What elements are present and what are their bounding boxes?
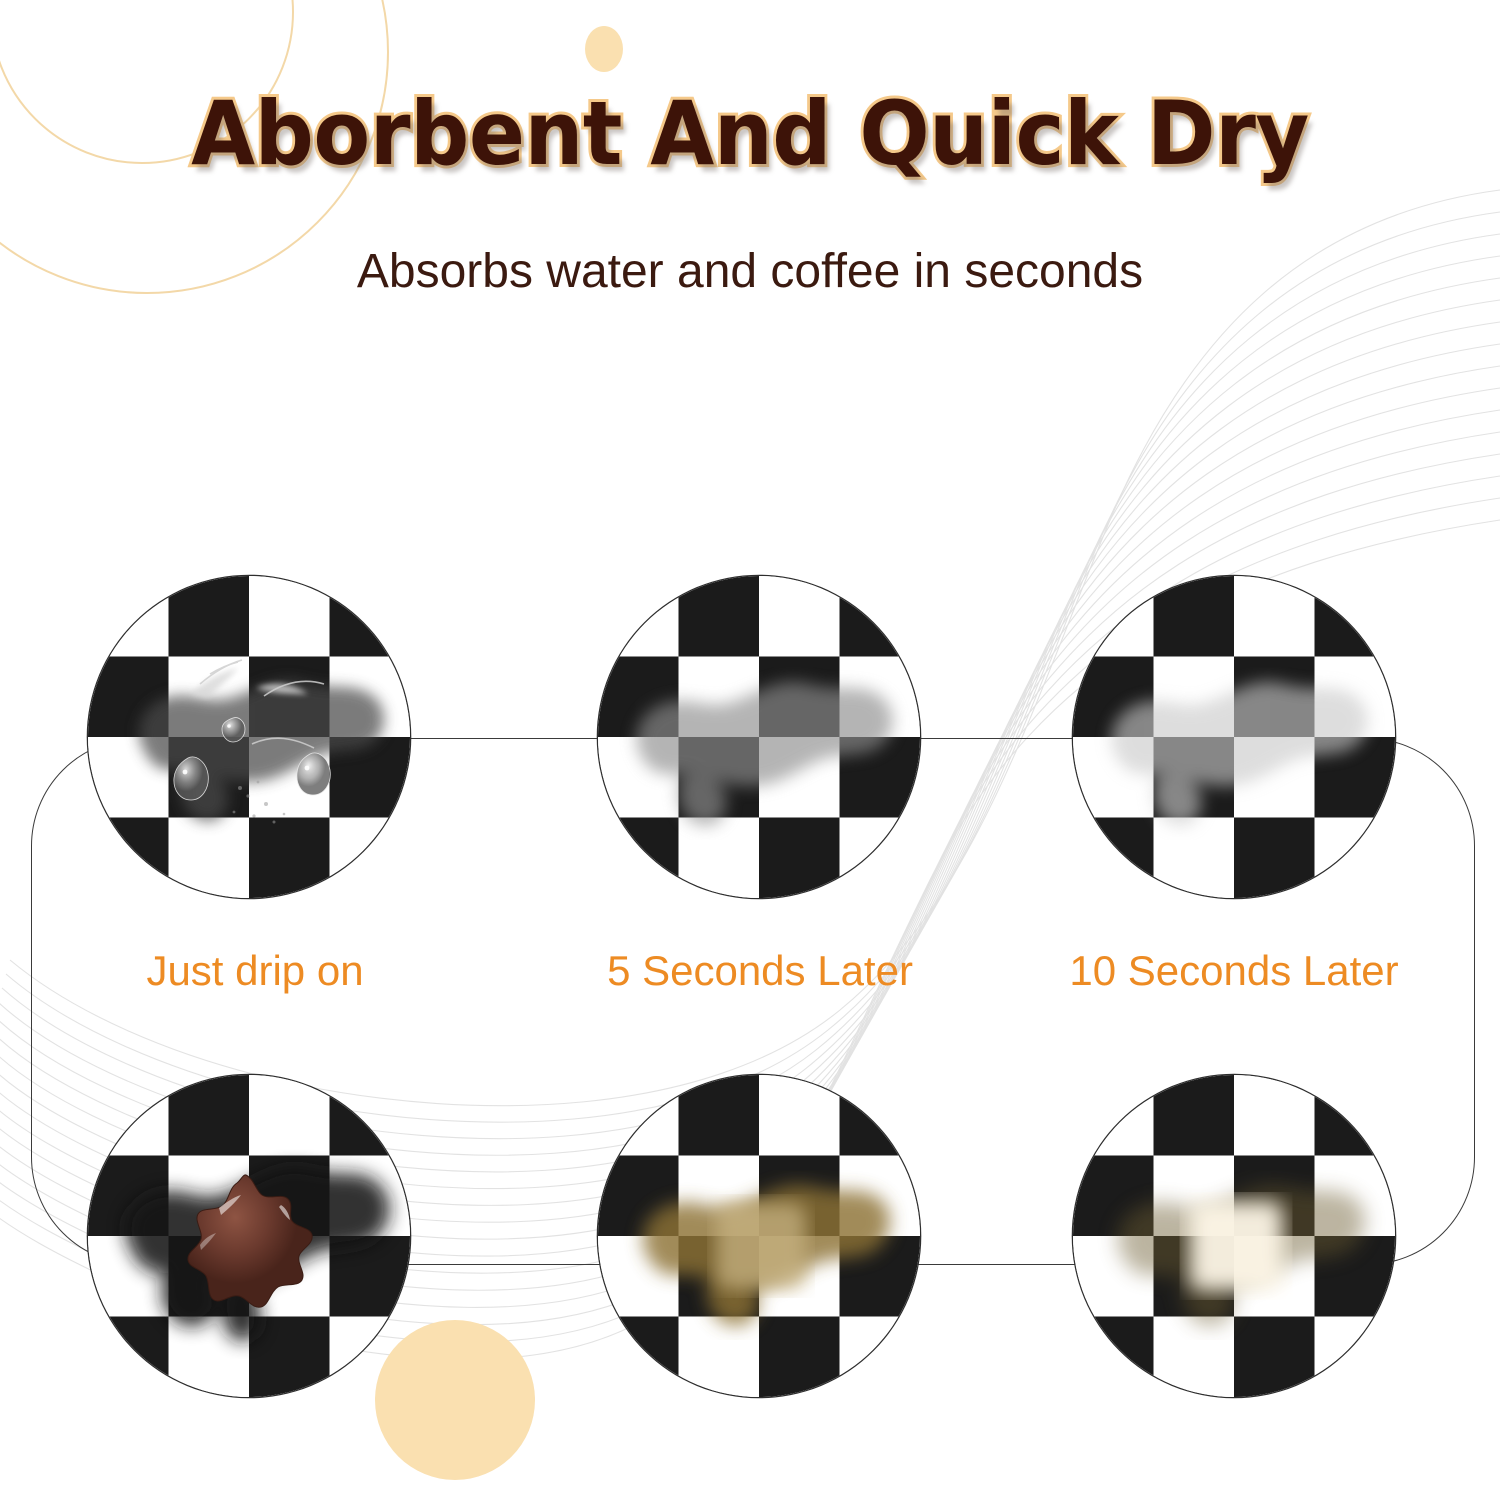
water-stain-nearly-dry <box>1073 576 1395 898</box>
decorative-cream-dot-top <box>585 26 623 72</box>
connector-line-top-1 <box>400 738 610 739</box>
caption-5-seconds-later: 5 Seconds Later <box>560 947 960 995</box>
water-stain-damp <box>598 576 920 898</box>
water-swatch-just-drip-on <box>88 576 410 898</box>
page-title: Aborbent And Quick Dry <box>45 86 1455 181</box>
coffee-splash-wet <box>88 1075 410 1397</box>
page-subtitle: Absorbs water and coffee in seconds <box>0 244 1500 299</box>
coffee-swatch-5-seconds <box>598 1075 920 1397</box>
infographic-canvas: Aborbent And Quick Dry Absorbs water and… <box>0 0 1500 1496</box>
connector-line-bottom-1 <box>400 1264 610 1265</box>
water-swatch-5-seconds <box>598 576 920 898</box>
connector-line-top-2 <box>910 738 1086 739</box>
water-splash-wet <box>88 576 410 898</box>
coffee-stain-nearly-dry <box>1073 1075 1395 1397</box>
caption-10-seconds-later: 10 Seconds Later <box>1034 947 1434 995</box>
caption-just-drip-on: Just drip on <box>55 947 455 995</box>
coffee-swatch-just-drip-on <box>88 1075 410 1397</box>
coffee-stain-damp <box>598 1075 920 1397</box>
connector-line-bottom-2 <box>910 1264 1086 1265</box>
water-swatch-10-seconds <box>1073 576 1395 898</box>
coffee-swatch-10-seconds <box>1073 1075 1395 1397</box>
